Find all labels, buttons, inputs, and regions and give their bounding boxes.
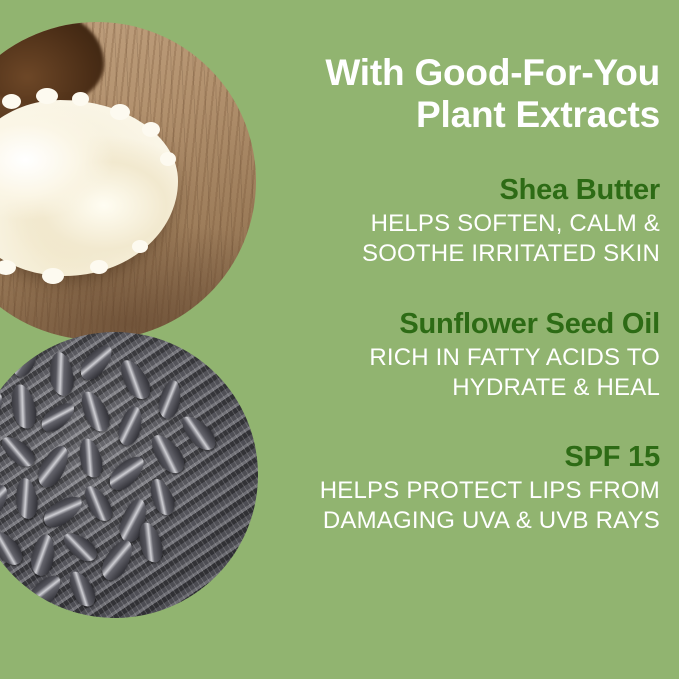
ingredient-description: HELPS SOFTEN, CALM & SOOTHE IRRITATED SK… [230,209,660,269]
ingredient-name: Shea Butter [230,173,660,207]
shea-butter-photo [0,22,256,340]
ingredient-description-line-1: HELPS SOFTEN, CALM & [371,210,660,237]
ingredient-description: HELPS PROTECT LIPS FROM DAMAGING UVA & U… [230,476,660,536]
ingredient-name: SPF 15 [230,440,660,474]
ingredient-description-line-1: RICH IN FATTY ACIDS TO [369,344,660,371]
ingredient-name: Sunflower Seed Oil [230,307,660,341]
ingredient-description-line-2: DAMAGING UVA & UVB RAYS [323,507,660,534]
sunflower-seeds-photo [0,332,258,618]
ingredient-block-spf-15: SPF 15 HELPS PROTECT LIPS FROM DAMAGING … [230,440,660,536]
page-title-line-1: With Good-For-You [325,52,660,93]
page-title: With Good-For-You Plant Extracts [230,0,660,136]
benefits-text-column: With Good-For-You Plant Extracts Shea Bu… [230,0,660,679]
ingredient-block-shea-butter: Shea Butter HELPS SOFTEN, CALM & SOOTHE … [230,173,660,269]
ingredient-block-sunflower-seed-oil: Sunflower Seed Oil RICH IN FATTY ACIDS T… [230,307,660,403]
product-benefits-infographic: With Good-For-You Plant Extracts Shea Bu… [0,0,679,679]
ingredient-description-line-2: HYDRATE & HEAL [452,374,660,401]
ingredient-description-line-1: HELPS PROTECT LIPS FROM [320,477,660,504]
ingredient-description: RICH IN FATTY ACIDS TO HYDRATE & HEAL [230,343,660,403]
shea-butter-mass [0,100,178,276]
ingredient-description-line-2: SOOTHE IRRITATED SKIN [362,240,660,267]
page-title-line-2: Plant Extracts [416,94,660,135]
